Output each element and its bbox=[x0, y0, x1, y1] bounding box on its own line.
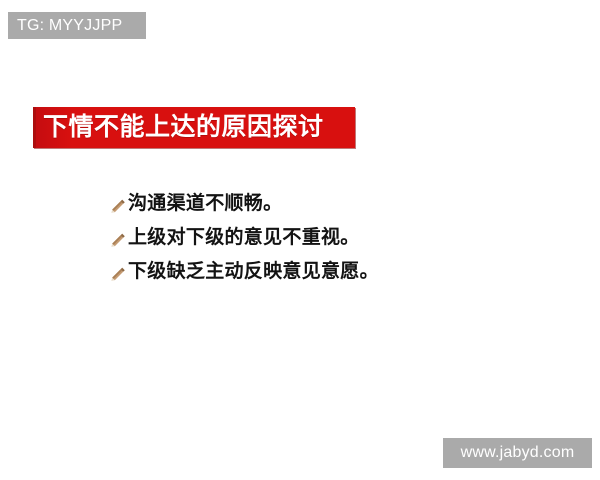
bullet-list: 沟通渠道不顺畅。 上级对下级的意见不重视。 下级缺乏主动反映意见意愿。 bbox=[110, 191, 530, 293]
presentation-slide: TG: MYYJJPP 下情不能上达的原因探讨 沟通渠道不顺畅。 上级对下级的意… bbox=[0, 0, 600, 480]
list-item-label: 下级缺乏主动反映意见意愿。 bbox=[128, 261, 379, 283]
website-watermark: www.jabyd.com bbox=[443, 438, 592, 468]
quill-bullet-icon bbox=[110, 264, 126, 284]
telegram-tag-overlay: TG: MYYJJPP bbox=[8, 12, 146, 39]
slide-title-banner: 下情不能上达的原因探讨 bbox=[33, 107, 355, 148]
slide-title-text: 下情不能上达的原因探讨 bbox=[43, 115, 324, 140]
telegram-tag-label: TG: MYYJJPP bbox=[17, 18, 122, 34]
quill-bullet-icon bbox=[110, 196, 126, 216]
website-watermark-label: www.jabyd.com bbox=[461, 445, 575, 461]
list-item: 沟通渠道不顺畅。 bbox=[110, 191, 530, 225]
list-item: 下级缺乏主动反映意见意愿。 bbox=[110, 259, 530, 293]
quill-bullet-icon bbox=[110, 230, 126, 250]
list-item-label: 沟通渠道不顺畅。 bbox=[128, 193, 282, 215]
list-item: 上级对下级的意见不重视。 bbox=[110, 225, 530, 259]
list-item-label: 上级对下级的意见不重视。 bbox=[128, 227, 360, 249]
